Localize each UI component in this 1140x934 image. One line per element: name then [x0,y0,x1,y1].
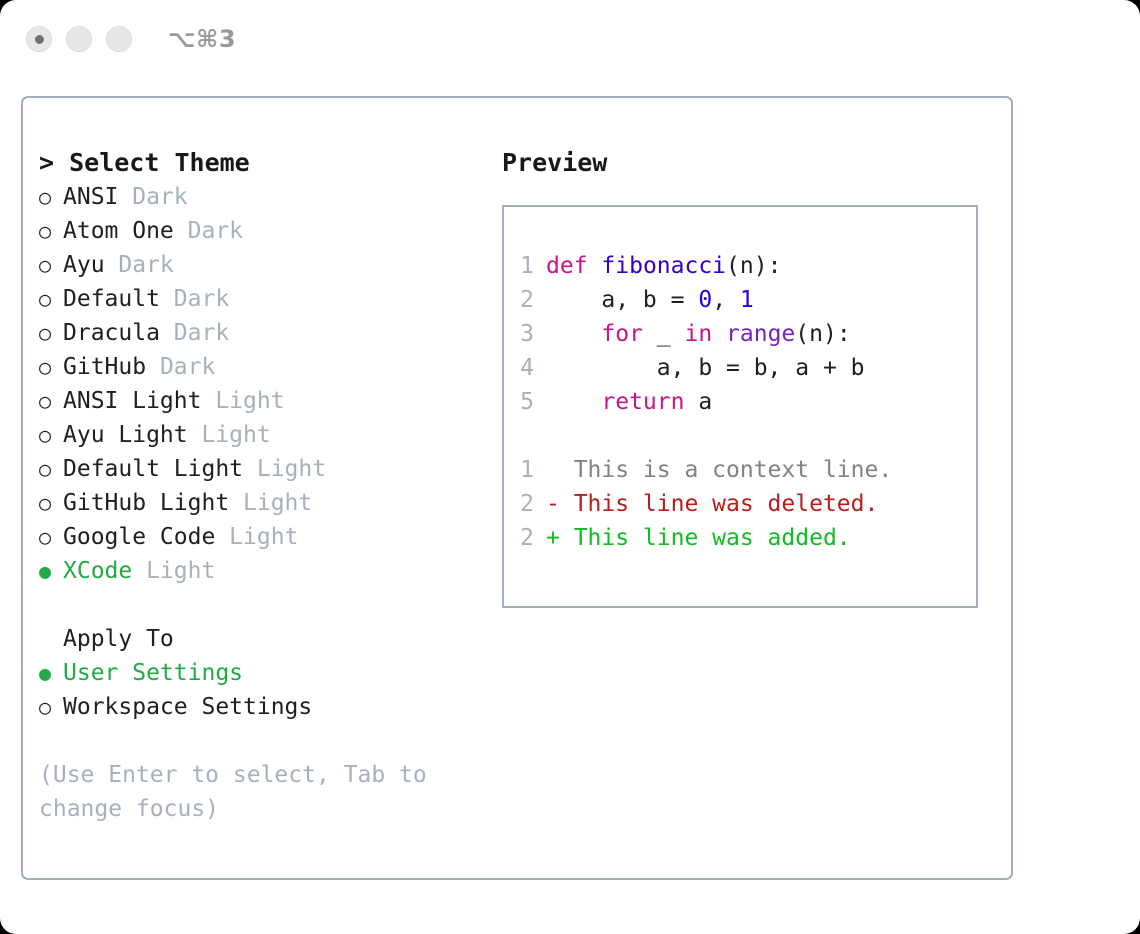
code-token [546,321,601,347]
code-line-number: 1 [504,249,546,283]
theme-option-list: ○ANSI Dark○Atom One Dark○Ayu Dark○Defaul… [39,180,499,588]
code-line-text: a, b = b, a + b [546,351,865,385]
diff-line: 1 This is a context line. [504,453,976,487]
apply-to-heading: Apply To [39,622,499,656]
code-token: _ [643,321,685,347]
option-variant-tag: Light [215,520,298,554]
diff-line-text: + This line was added. [546,521,851,555]
code-token: 1 [740,287,754,313]
option-variant-tag: Light [243,452,326,486]
option-variant-tag: Dark [105,248,174,282]
preview-box: 1def fibonacci(n):2 a, b = 0, 13 for _ i… [502,205,978,608]
radio-unselected-icon: ○ [39,384,63,418]
radio-unselected-icon: ○ [39,316,63,350]
diff-line: 2+ This line was added. [504,521,976,555]
option-variant-tag: Dark [146,350,215,384]
radio-unselected-icon: ○ [39,690,63,724]
theme-option-2[interactable]: ○Ayu Dark [39,248,499,282]
radio-unselected-icon: ○ [39,520,63,554]
apply-to-option-1[interactable]: ○Workspace Settings [39,690,499,724]
code-line: 3 for _ in range(n): [504,317,976,351]
theme-option-4[interactable]: ○Dracula Dark [39,316,499,350]
traffic-light-third-icon[interactable] [106,26,132,52]
option-label: User Settings [63,656,243,690]
code-token: def [546,253,588,279]
radio-unselected-icon: ○ [39,418,63,452]
code-line-number: 2 [504,283,546,317]
window-controls [26,26,132,52]
option-label: Atom One [63,214,174,248]
code-token: 0 [698,287,712,313]
preview-panel: Preview 1def fibonacci(n):2 a, b = 0, 13… [502,146,997,608]
radio-unselected-icon: ○ [39,486,63,520]
keyboard-hint-text: (Use Enter to select, Tab to change focu… [39,758,439,826]
option-variant-tag: Light [132,554,215,588]
radio-unselected-icon: ○ [39,282,63,316]
code-line-text: def fibonacci(n): [546,249,781,283]
apply-to-option-0[interactable]: ●User Settings [39,656,499,690]
theme-option-9[interactable]: ○GitHub Light Light [39,486,499,520]
option-variant-tag: Dark [174,214,243,248]
code-token: fibonacci [601,253,726,279]
radio-unselected-icon: ○ [39,214,63,248]
code-token: return [601,389,684,415]
theme-selector-panel: > Select Theme ○ANSI Dark○Atom One Dark○… [39,146,499,826]
titlebar: ⌥⌘3 [0,0,1140,78]
code-token: in [684,321,712,347]
option-label: XCode [63,554,132,588]
diff-line-number: 2 [504,521,546,555]
theme-option-0[interactable]: ○ANSI Dark [39,180,499,214]
diff-line-number: 1 [504,453,546,487]
traffic-light-dot-icon [35,35,44,44]
main-card: > Select Theme ○ANSI Dark○Atom One Dark○… [21,96,1013,880]
radio-selected-icon: ● [39,656,63,690]
option-label: GitHub [63,350,146,384]
apply-to-option-list: ●User Settings○Workspace Settings [39,656,499,724]
code-line-text: a, b = 0, 1 [546,283,754,317]
theme-option-1[interactable]: ○Atom One Dark [39,214,499,248]
theme-option-3[interactable]: ○Default Dark [39,282,499,316]
code-sample: 1def fibonacci(n):2 a, b = 0, 13 for _ i… [504,249,976,419]
theme-option-8[interactable]: ○Default Light Light [39,452,499,486]
theme-option-6[interactable]: ○ANSI Light Light [39,384,499,418]
code-token: a, b = b, a + b [546,355,865,381]
code-line-number: 5 [504,385,546,419]
diff-sample: 1 This is a context line.2- This line wa… [504,453,976,555]
option-variant-tag: Dark [160,316,229,350]
code-line: 2 a, b = 0, 1 [504,283,976,317]
code-token [712,321,726,347]
option-label: ANSI [63,180,118,214]
code-token: a [684,389,712,415]
code-token: (n): [795,321,850,347]
page-title: > Select Theme [39,146,499,180]
option-variant-tag: Light [201,384,284,418]
code-token: a, b = [546,287,698,313]
code-line-text: for _ in range(n): [546,317,851,351]
option-label: Dracula [63,316,160,350]
radio-unselected-icon: ○ [39,248,63,282]
option-variant-tag: Light [229,486,312,520]
diff-line-number: 2 [504,487,546,521]
option-variant-tag: Dark [160,282,229,316]
option-label: Google Code [63,520,215,554]
radio-selected-icon: ● [39,554,63,588]
code-line-number: 4 [504,351,546,385]
option-label: ANSI Light [63,384,201,418]
code-token: , [712,287,740,313]
traffic-light-second-icon[interactable] [66,26,92,52]
option-label: Ayu Light [63,418,188,452]
option-label: Default Light [63,452,243,486]
option-variant-tag: Dark [118,180,187,214]
code-line: 1def fibonacci(n): [504,249,976,283]
theme-option-10[interactable]: ○Google Code Light [39,520,499,554]
option-label: Default [63,282,160,316]
code-token [546,389,601,415]
diff-line-text: This is a context line. [546,453,892,487]
code-token [588,253,602,279]
code-token: (n): [726,253,781,279]
code-token: for [601,321,643,347]
traffic-light-active-icon[interactable] [26,26,52,52]
theme-option-11[interactable]: ●XCode Light [39,554,499,588]
radio-unselected-icon: ○ [39,180,63,214]
option-label: Ayu [63,248,105,282]
code-line-number: 3 [504,317,546,351]
code-blank-line [504,419,976,453]
radio-unselected-icon: ○ [39,452,63,486]
code-line: 5 return a [504,385,976,419]
diff-line-text: - This line was deleted. [546,487,878,521]
diff-line: 2- This line was deleted. [504,487,976,521]
app-window: ⌥⌘3 > Select Theme ○ANSI Dark○Atom One D… [0,0,1140,934]
code-line-text: return a [546,385,712,419]
code-line: 4 a, b = b, a + b [504,351,976,385]
theme-option-7[interactable]: ○Ayu Light Light [39,418,499,452]
code-token: range [726,321,795,347]
section-spacer [39,588,499,622]
theme-option-5[interactable]: ○GitHub Dark [39,350,499,384]
preview-title: Preview [502,146,997,180]
option-label: GitHub Light [63,486,229,520]
keyboard-shortcut-label: ⌥⌘3 [168,25,236,53]
radio-unselected-icon: ○ [39,350,63,384]
option-variant-tag: Light [188,418,271,452]
option-label: Workspace Settings [63,690,312,724]
